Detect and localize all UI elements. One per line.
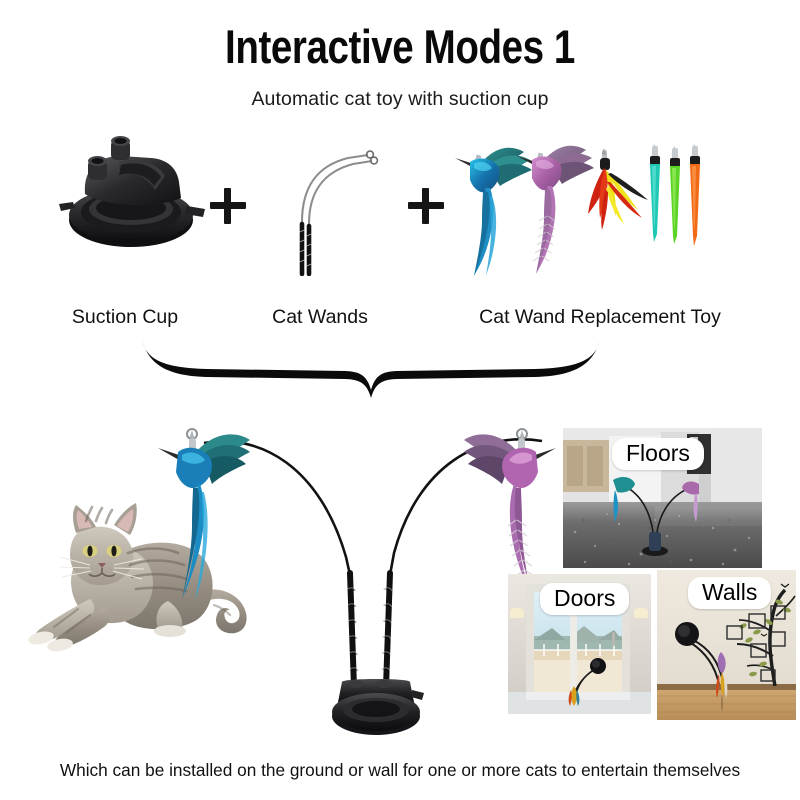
badge-walls: Walls xyxy=(688,577,771,609)
badge-doors: Doors xyxy=(540,583,629,615)
page-subtitle: Automatic cat toy with suction cup xyxy=(0,88,800,111)
plus-operator-2 xyxy=(408,188,444,224)
red-yellow-feather xyxy=(588,148,648,230)
label-replacement-toy: Cat Wand Replacement Toy xyxy=(440,306,760,329)
footer-caption: Which can be installed on the ground or … xyxy=(6,760,794,781)
suction-base xyxy=(322,676,430,738)
tube-toys xyxy=(650,144,700,246)
label-cat-wands: Cat Wands xyxy=(245,306,395,329)
label-suction-cup: Suction Cup xyxy=(30,306,220,329)
infographic-canvas: Interactive Modes 1 Automatic cat toy wi… xyxy=(0,0,800,800)
feather-toy-icon xyxy=(452,138,712,288)
purple-hummingbird xyxy=(517,146,594,274)
cat-wand-icon xyxy=(280,136,390,276)
scene-teal-hummingbird xyxy=(152,424,272,604)
teal-hummingbird xyxy=(455,148,532,276)
suction-cup-icon xyxy=(55,132,215,257)
curly-brace-icon xyxy=(135,338,605,400)
plus-operator-1 xyxy=(210,188,246,224)
page-title: Interactive Modes 1 xyxy=(72,22,728,71)
badge-floors: Floors xyxy=(612,438,704,470)
